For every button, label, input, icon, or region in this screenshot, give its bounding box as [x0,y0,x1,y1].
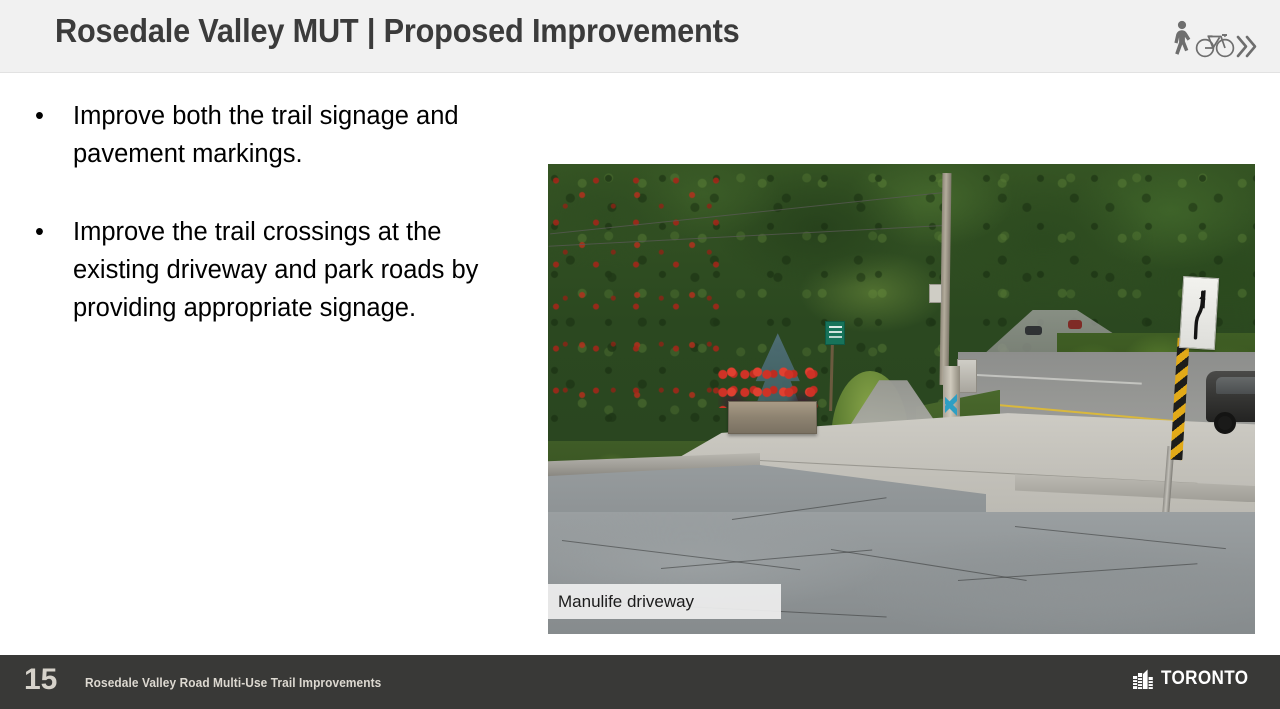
slide-footer: 15 Rosedale Valley Road Multi-Use Trail … [0,655,1280,709]
list-item: • Improve the trail crossings at the exi… [26,213,526,327]
photo-canvas [548,164,1255,634]
page-title: Rosedale Valley MUT | Proposed Improveme… [55,12,740,50]
footer-subtitle: Rosedale Valley Road Multi-Use Trail Imp… [85,676,381,690]
toronto-logo: TORONTO [1133,668,1258,690]
slide-content: • Improve both the trail signage and pav… [0,73,1280,655]
toronto-skyline-icon [1133,669,1155,689]
distant-vehicle [1068,320,1082,329]
curve-warning-sign [1179,276,1219,350]
slide-header: Rosedale Valley MUT | Proposed Improveme… [0,0,1280,73]
double-chevron-icon [1238,37,1255,56]
bollard-back-plate [957,359,977,393]
bullet-text: Improve the trail crossings at the exist… [73,218,478,322]
green-trail-sign [825,321,845,345]
bullet-dot-icon: • [35,97,44,135]
curve-arrow-glyph [1190,285,1209,340]
pedestrian-icon [1174,21,1190,55]
berry-tree [548,173,732,417]
bullet-dot-icon: • [35,213,44,251]
bullet-text: Improve both the trail signage and pavem… [73,102,459,168]
proposed-improvements-list: • Improve both the trail signage and pav… [26,97,526,327]
utility-box [929,284,942,303]
list-item: • Improve both the trail signage and pav… [26,97,526,173]
suv-window [1216,377,1255,394]
bicycle-icon [1197,35,1234,56]
pedestrian-bicycle-chevron-icon [1167,18,1262,60]
header-mode-icons [1167,18,1262,60]
toronto-logo-text: TORONTO [1161,668,1248,690]
concrete-planter [728,401,816,434]
distant-vehicle [1025,326,1042,335]
suv-wheel [1214,412,1236,434]
street-photo: Manulife driveway [548,164,1255,634]
photo-caption: Manulife driveway [548,584,781,619]
page-number: 15 [24,663,57,697]
